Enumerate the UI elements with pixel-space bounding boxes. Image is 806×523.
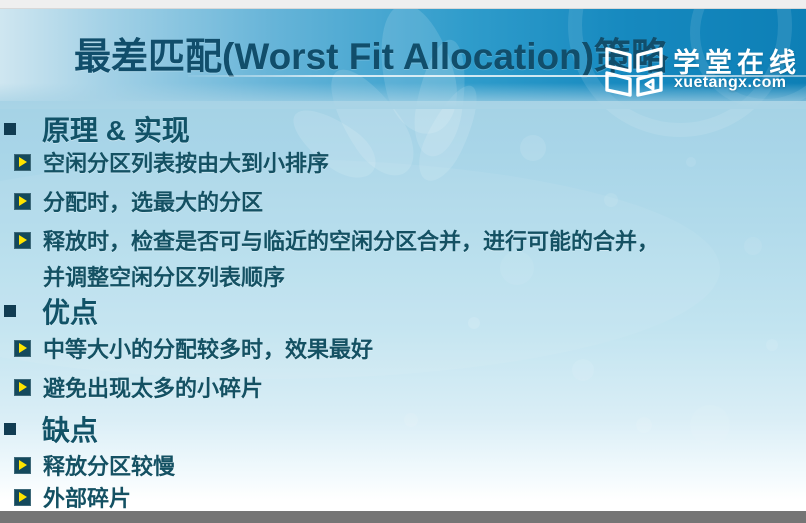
bullet-item-label: 空闲分区列表按由大到小排序 [43,146,329,178]
bullet-item-continuation: 并调整空闲分区列表顺序 [0,260,285,292]
bullet-item-label: 中等大小的分配较多时，效果最好 [43,332,373,364]
bullet-item: 外部碎片 [0,481,131,511]
triangle-bullet-icon [14,232,31,249]
triangle-bullet-icon [14,457,31,474]
bullet-item: 分配时，选最大的分区 [0,185,263,217]
logo-url: xuetangx.com [674,74,786,92]
section-heading: 优点 [0,291,98,331]
bullet-item: 释放分区较慢 [0,449,175,481]
bullet-item: 中等大小的分配较多时，效果最好 [0,332,373,364]
bullet-item-label: 释放分区较慢 [43,449,175,481]
section-heading: 缺点 [0,409,98,449]
triangle-bullet-icon [14,193,31,210]
slide-title: 最差匹配(Worst Fit Allocation)策略 [74,26,668,80]
section-heading: 原理 & 实现 [0,109,190,149]
square-bullet-icon [4,423,16,435]
bullet-item: 避免出现太多的小碎片 [0,371,263,403]
triangle-bullet-icon [14,489,31,506]
bullet-item: 空闲分区列表按由大到小排序 [0,146,329,178]
triangle-bullet-icon [14,154,31,171]
section-heading-label: 优点 [42,291,98,331]
open-book-icon [603,43,665,101]
bottom-chrome-bar [0,511,806,523]
top-chrome-bar [0,0,806,9]
xuetangx-logo[interactable]: 学堂在线 xuetangx.com [603,41,806,103]
bullet-item-label: 外部碎片 [43,481,131,511]
bullet-item-label: 分配时，选最大的分区 [43,185,263,217]
presentation-slide: 最差匹配(Worst Fit Allocation)策略 学堂在线 xuetan… [0,0,806,523]
bullet-spacer [14,268,31,285]
square-bullet-icon [4,123,16,135]
triangle-bullet-icon [14,379,31,396]
section-heading-label: 缺点 [42,409,98,449]
slide-canvas: 最差匹配(Worst Fit Allocation)策略 学堂在线 xuetan… [0,9,806,511]
bullet-item-label: 释放时，检查是否可与临近的空闲分区合并，进行可能的合并， [43,224,659,256]
bullet-item: 释放时，检查是否可与临近的空闲分区合并，进行可能的合并， [0,224,659,256]
square-bullet-icon [4,305,16,317]
bullet-item-label: 避免出现太多的小碎片 [43,371,263,403]
triangle-bullet-icon [14,340,31,357]
section-heading-label: 原理 & 实现 [42,109,190,149]
bullet-item-label: 并调整空闲分区列表顺序 [43,260,285,292]
